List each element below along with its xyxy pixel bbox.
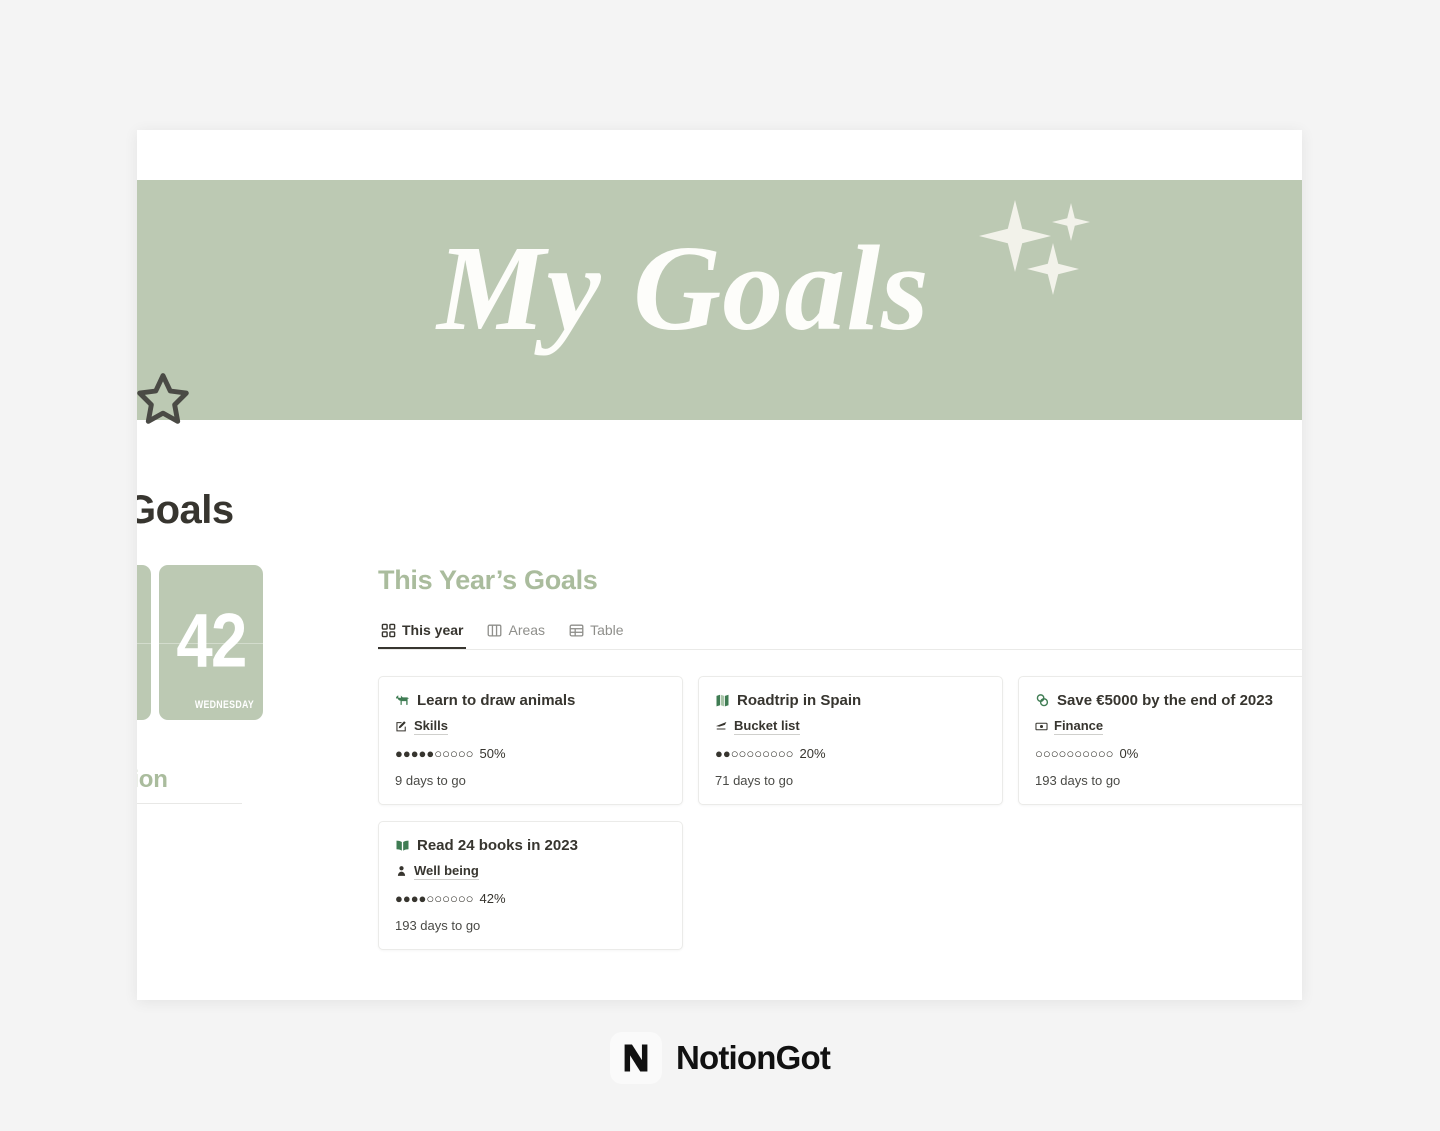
right-column: This Year’s Goals This year — [378, 565, 1302, 950]
goal-card[interactable]: Read 24 books in 2023 Well being — [378, 821, 683, 950]
flip-clock-hours-value: 02 — [137, 603, 144, 679]
goal-card-progress-row: ●●●●○○○○○○ 42% — [395, 891, 666, 906]
page-body: Goals 02 42 WEDNESDAY Navigation Ar — [137, 420, 1302, 1000]
tasks-heading: Tasks — [137, 964, 327, 992]
progress-percent: 20% — [800, 746, 826, 761]
navigation-divider — [137, 803, 242, 804]
goal-card-title-row: Learn to draw animals — [395, 692, 666, 709]
goal-card-progress-row: ●●○○○○○○○○ 20% — [715, 746, 986, 761]
dog-icon — [395, 693, 410, 708]
goal-card-days: 193 days to go — [1035, 773, 1302, 788]
progress-dots: ●●●●○○○○○○ — [395, 892, 474, 905]
flip-clock-minutes-value: 42 — [166, 603, 255, 679]
goal-card-title: Save €5000 by the end of 2023 — [1057, 692, 1273, 709]
tab-label: Areas — [508, 622, 545, 638]
notion-window: My Goals Goals 02 — [137, 130, 1302, 1000]
goal-card-area: Finance — [1054, 718, 1103, 735]
goal-card-progress-row: ●●●●●○○○○○ 50% — [395, 746, 666, 761]
airplane-icon — [715, 720, 728, 733]
gallery-view-icon — [381, 623, 396, 638]
page-root: My Goals Goals 02 — [0, 0, 1440, 1131]
star-outline-icon[interactable] — [137, 370, 191, 426]
goal-card-grid: Learn to draw animals Skills — [378, 676, 1302, 950]
sparkle-small-icon — [1052, 203, 1090, 241]
goal-card-progress-row: ○○○○○○○○○○ 0% — [1035, 746, 1302, 761]
tab-table[interactable]: Table — [566, 616, 626, 649]
progress-dots: ●●○○○○○○○○ — [715, 747, 794, 760]
map-icon — [715, 693, 730, 708]
progress-dots: ○○○○○○○○○○ — [1035, 747, 1114, 760]
progress-percent: 42% — [480, 891, 506, 906]
goal-card-area: Well being — [414, 863, 479, 880]
cover-banner: My Goals — [137, 180, 1302, 420]
cover-title: My Goals — [437, 228, 930, 350]
goal-card-days: 193 days to go — [395, 918, 666, 933]
goal-card-title: Roadtrip in Spain — [737, 692, 861, 709]
tab-this-year[interactable]: This year — [378, 616, 466, 649]
memo-icon — [395, 720, 408, 733]
goal-card-title: Read 24 books in 2023 — [417, 837, 578, 854]
list-item: Tasks — [137, 853, 327, 871]
goal-card-title-row: Save €5000 by the end of 2023 — [1035, 692, 1302, 709]
notiongot-logo-icon — [610, 1032, 662, 1084]
goal-card-days: 9 days to go — [395, 773, 666, 788]
goal-card[interactable]: Learn to draw animals Skills — [378, 676, 683, 805]
navigation-heading: Navigation — [137, 766, 327, 794]
goal-card-area-row: Skills — [395, 718, 666, 735]
tab-label: This year — [402, 622, 463, 638]
goal-card-days: 71 days to go — [715, 773, 986, 788]
table-view-icon — [569, 623, 584, 638]
progress-dots: ●●●●●○○○○○ — [395, 747, 474, 760]
list-item: All my goals — [137, 884, 327, 902]
flip-clock-day-name: WEDNESDAY — [195, 699, 254, 711]
brand-footer: NotionGot — [0, 1032, 1440, 1084]
goal-card-area: Skills — [414, 718, 448, 735]
banknote-icon — [1035, 720, 1048, 733]
person-icon — [395, 865, 408, 878]
view-tabs: This year Areas — [378, 616, 1302, 650]
flip-clock-widget: 02 42 WEDNESDAY — [137, 565, 327, 720]
tab-label: Table — [590, 622, 623, 638]
goal-card-area-row: Bucket list — [715, 718, 986, 735]
goal-card[interactable]: Roadtrip in Spain Bucket list — [698, 676, 1003, 805]
goal-card-title: Learn to draw animals — [417, 692, 575, 709]
flip-clock-hours: 02 — [137, 565, 151, 720]
coin-icon — [1035, 693, 1050, 708]
list-item: Areas — [137, 822, 327, 840]
goal-card-area: Bucket list — [734, 718, 800, 735]
progress-percent: 50% — [480, 746, 506, 761]
progress-percent: 0% — [1120, 746, 1139, 761]
sparkle-medium-icon — [1027, 243, 1079, 295]
goal-card-title-row: Read 24 books in 2023 — [395, 837, 666, 854]
goal-card-area-row: Finance — [1035, 718, 1302, 735]
brand-name: NotionGot — [676, 1039, 830, 1077]
page-title: Goals — [137, 488, 234, 533]
tab-areas[interactable]: Areas — [484, 616, 548, 649]
board-view-icon — [487, 623, 502, 638]
goal-card-area-row: Well being — [395, 863, 666, 880]
goal-card[interactable]: Save €5000 by the end of 2023 Finance — [1018, 676, 1302, 805]
goals-section-heading: This Year’s Goals — [378, 565, 1302, 596]
flip-clock-minutes: 42 WEDNESDAY — [159, 565, 263, 720]
left-column: 02 42 WEDNESDAY Navigation Areas Tasks — [137, 565, 327, 992]
navigation-list: Areas Tasks All my goals — [137, 822, 327, 902]
open-book-icon — [395, 838, 410, 853]
goal-card-title-row: Roadtrip in Spain — [715, 692, 986, 709]
